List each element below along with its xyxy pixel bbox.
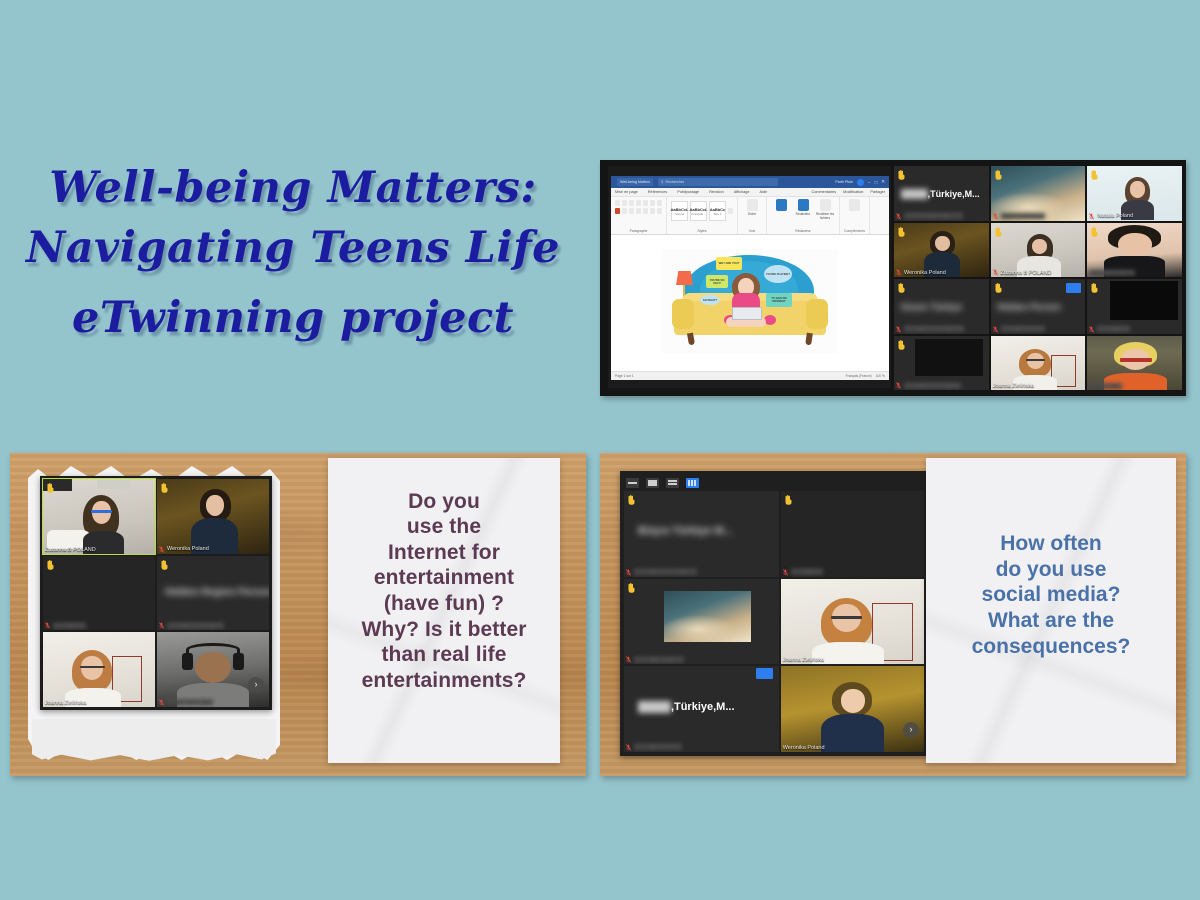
sort-icon[interactable] [650,200,655,206]
ribbon-tab-mise-en-page[interactable]: Mise en page [615,190,638,194]
shared-screen-area: Well-being Matters ⚲ Rechercher Partir P… [608,166,891,388]
spiral-ring [544,454,551,466]
zoom-level: 100 % [876,374,885,378]
spiral-ring [1063,454,1070,466]
participant-name: Zuzanna B POLAND [1001,270,1052,276]
group-label-styles: Styles [671,229,733,234]
spiral-ring [1127,454,1134,466]
participant-name: Büşra Türkiye M... [638,525,733,537]
spiral-ring [455,454,462,466]
table-row[interactable]: Zuzanna B POLAND [42,478,156,555]
split-rows-icon[interactable] [666,478,679,488]
table-row[interactable]: Weronika Poland [894,223,989,278]
bullets-icon[interactable] [615,200,620,206]
speech-bubble-1: WHY ARE YOU? [716,257,742,270]
spiral-ring [1079,454,1086,466]
mic-muted-icon [159,699,164,706]
spiral-ring [411,454,418,466]
spiral-ring [470,454,477,466]
show-marks-icon[interactable] [657,200,662,206]
collapse-bar-icon[interactable] [626,478,639,488]
raised-hand-icon [46,559,55,570]
decrease-indent-icon[interactable] [636,200,641,206]
participant-column-right: Hidden name Joanna Zielińska [781,491,924,752]
reuse-files-button[interactable]: Réutiliser les fichiers [815,199,835,220]
participant-name: Weronika Poland [167,546,209,552]
style-normal[interactable]: AaBbCcL Normal [671,201,688,221]
table-row[interactable]: Hidden participant [991,166,1086,221]
account-label: Partir Pluie [835,180,853,184]
multilevel-list-icon[interactable] [629,200,634,206]
table-row[interactable]: Hidden Region Person Hidden participant … [156,555,270,632]
spiral-binding [936,454,1166,467]
align-left-icon[interactable] [622,208,627,214]
participant-name: Hidden Person [997,302,1061,312]
spiral-ring [381,454,388,466]
mic-muted-icon [896,269,901,276]
participant-video [43,479,155,554]
page-number: Page 1 sur 1 [615,374,634,378]
style-titre-1[interactable]: AaBbCc Titre 1 [709,201,726,221]
addin-icon [849,199,860,211]
lamp-icon [676,271,693,285]
participant-video [915,339,983,376]
word-window: Well-being Matters ⚲ Rechercher Partir P… [611,176,889,380]
chevron-right-icon: › [910,725,913,734]
borders-icon[interactable] [657,208,662,214]
spiral-ring [499,454,506,466]
participant-video [991,336,1086,391]
speech-bubble-2: YOU'RE SO UGLY! [706,275,728,288]
word-search-input[interactable]: ⚲ Rechercher [658,178,778,186]
close-icon[interactable]: ✕ [881,179,885,185]
title-line-2: Navigating Teens Life [0,218,586,278]
participant-name: Hidden Region Person [165,587,270,598]
increase-indent-icon[interactable] [643,200,648,206]
table-row[interactable]: › Weronika Poland [781,666,924,752]
view-mode-toolbar [626,476,699,489]
mic-muted-icon [45,622,50,629]
speech-bubble-5: TU SAIS NO INTEREST [766,293,792,307]
status-badge [1066,283,1081,293]
participant-video [781,579,924,665]
spiral-ring [968,454,975,466]
spiral-ring [514,454,521,466]
participant-video [1087,336,1182,391]
spiral-ring [984,454,991,466]
ribbon-group-styles: AaBbCcL Normal AaBbCcL Français... AaBbC… [667,197,738,234]
status-badge [756,668,773,679]
raised-hand-icon [160,559,169,570]
grid-view-icon[interactable] [686,478,699,488]
spiral-ring [1143,454,1150,466]
dictate-button[interactable]: Dicter [742,199,762,216]
question-note-left: Do you use the Internet for entertainmen… [328,458,560,763]
table-row[interactable]: Zuzanna B POLAND [991,223,1086,278]
table-row[interactable]: Hidden name label [1087,223,1182,278]
raised-hand-icon [1090,282,1099,293]
spiral-ring [440,454,447,466]
spiral-ring [485,454,492,466]
share-button[interactable]: Partager [870,190,885,194]
group-label-paragraphe: Paragraphe [615,229,662,234]
spiral-ring [352,454,359,466]
mic-muted-icon [993,326,998,333]
table-row[interactable]: Hidden participant nam [894,336,989,391]
spiral-ring [529,454,536,466]
justify-icon[interactable] [643,208,648,214]
spiral-ring [396,454,403,466]
table-row[interactable]: Büşra Türkiye M... Hidden participant la… [624,491,779,577]
style-francais[interactable]: AaBbCcL Français... [690,201,707,221]
comments-button[interactable]: Commentaires [811,190,836,194]
girl-on-couch-with-laptop-illustration: WHY ARE YOU? YOU'RE SO UGLY! SO WHAT? YO… [662,249,838,353]
raised-hand-icon [897,169,906,180]
spiral-ring [1159,454,1166,466]
maximize-icon[interactable]: □ [875,180,878,185]
raised-hand-icon [897,282,906,293]
pen-icon [798,199,809,211]
table-row[interactable]: Natalia Poland [1087,166,1182,221]
spiral-ring [1032,454,1039,466]
numbering-icon[interactable] [622,200,627,206]
laptop-icon [732,307,762,320]
raised-hand-icon [627,494,636,505]
ribbon-tab-references[interactable]: Références [648,190,667,194]
mic-muted-icon [626,744,631,751]
chevron-right-icon: › [255,680,258,689]
ribbon-group-complements: Compléments [840,197,870,234]
table-row[interactable]: Joanna Zielińska [781,579,924,665]
participant-column-left: Büşra Türkiye M... Hidden participant la… [624,491,779,752]
title-line-1: Well-being Matters: [0,158,586,218]
participant-video [781,666,924,752]
table-row[interactable]: Hidden name [781,491,924,577]
speech-bubble-4: YOU'RE PLAYING? [764,265,792,283]
mic-muted-icon [783,569,788,576]
table-row[interactable]: Gizem,Türkiye,M... Hidden participant [624,666,779,752]
table-row[interactable]: Weronika Poland [156,478,270,555]
ribbon-group-redacteur: Rédacteur Réutiliser les fichiers Rédact… [767,197,840,234]
video-call-window: Büşra Türkiye M... Hidden participant la… [620,471,928,756]
ribbon-tab-publipostage[interactable]: Publipostage [677,190,699,194]
slide-canvas: Well-being Matters: Navigating Teens Lif… [0,0,1200,900]
styles-more-icon[interactable] [728,208,733,214]
raised-hand-icon [1090,169,1099,180]
editing-mode-button[interactable]: Modification [843,190,863,194]
participant-video [1087,223,1182,278]
participant-video [664,591,751,642]
group-label-complements: Compléments [844,229,865,234]
spiral-ring [1095,454,1102,466]
participant-name: Gizem,Türkiye,M... [638,701,735,713]
video-call-screenshot-shared-screen: Well-being Matters ⚲ Rechercher Partir P… [600,160,1186,396]
addins-button[interactable] [844,199,864,211]
spiral-ring [1000,454,1007,466]
spiral-ring [936,454,943,466]
table-row[interactable]: Gizem,Türkiye,M... Participant name hidd… [894,166,989,221]
table-row[interactable]: Hidden name [1087,279,1182,334]
spiral-ring [1016,454,1023,466]
spiral-ring [1047,454,1054,466]
spiral-ring [426,454,433,466]
participant-name: Joanna Zielińska [993,383,1034,389]
participant-video [157,632,269,707]
table-row[interactable]: Hidden name label [624,579,779,665]
word-document-page[interactable]: WHY ARE YOU? YOU'RE SO UGLY! SO WHAT? YO… [611,235,889,371]
group-label-redacteur: Rédacteur [771,229,835,234]
question-note-right: How often do you use social media? What … [926,458,1176,763]
spiral-ring [367,454,374,466]
table-row[interactable]: › Hidden name label [156,631,270,708]
align-center-icon[interactable] [629,208,634,214]
participant-name: Zuzanna B POLAND [45,547,96,553]
participant-name: Weronika Poland [783,745,825,751]
question-text-right: How often do you use social media? What … [944,531,1159,659]
single-frame-icon[interactable] [646,478,659,488]
question-text-left: Do you use the Internet for entertainmen… [344,489,544,694]
spiral-ring [1111,454,1118,466]
editor-button[interactable]: Rédacteur [793,199,813,216]
table-row[interactable]: Gizem Türkiye Hidden participant name [894,279,989,334]
video-call-window: Zuzanna B POLAND Weronika Poland [40,476,272,710]
participant-name: Joanna Zielińska [783,657,824,663]
spiral-ring [952,454,959,466]
mic-muted-icon [896,326,901,333]
reuse-icon [820,199,831,211]
microphone-icon [776,199,787,211]
title-line-3: eTwinning project [0,288,586,348]
ribbon-tab-revision[interactable]: Révision [709,190,724,194]
mic-muted-icon [159,622,164,629]
align-right-icon[interactable] [636,208,641,214]
raised-hand-icon [1090,226,1099,237]
raised-hand-icon [784,494,793,505]
language-label: Français (France) [846,374,872,378]
word-ribbon: Paragraphe AaBbCcL Normal AaBbCcL França… [611,197,889,235]
mic-muted-icon [896,213,901,220]
participant-name: Gizem Türkiye [901,302,963,312]
spiral-binding [337,454,550,467]
mic-muted-icon [159,546,164,553]
avatar[interactable] [857,179,864,186]
page-title: Well-being Matters: Navigating Teens Lif… [0,158,586,348]
raised-hand-icon [994,169,1003,180]
shading-icon[interactable] [615,208,620,214]
participant-grid: Gizem,Türkiye,M... Participant name hidd… [894,166,1182,390]
participant-video [1110,281,1178,320]
dictate-icon [747,199,758,211]
table-row[interactable]: Joanna Zielińska [42,631,156,708]
raised-hand-icon [46,482,55,493]
raised-hand-icon [627,582,636,593]
raised-hand-icon [897,339,906,350]
microphone-button[interactable] [771,199,791,211]
mic-muted-icon [993,269,998,276]
minimize-icon[interactable]: – [868,180,871,185]
raised-hand-icon [160,482,169,493]
line-spacing-icon[interactable] [650,208,655,214]
mic-muted-icon [896,382,901,389]
raised-hand-icon [994,282,1003,293]
word-titlebar: Well-being Matters ⚲ Rechercher Partir P… [611,176,889,188]
participant-name: Joanna Zielińska [45,700,86,706]
mic-muted-icon [626,656,631,663]
word-document-tab[interactable]: Well-being Matters [617,178,653,186]
next-page-button[interactable]: › [903,722,919,738]
next-page-button[interactable]: › [248,677,264,693]
participant-name: Weronika Poland [904,270,946,276]
ribbon-group-voix: Dicter Voix [738,197,767,234]
participant-grid: Zuzanna B POLAND Weronika Poland [42,478,270,708]
search-icon: ⚲ [661,180,664,184]
table-row[interactable]: Hidden Person Hidden participant [991,279,1086,334]
mic-muted-icon [1089,326,1094,333]
mic-muted-icon [626,569,631,576]
word-ribbon-tabs: Mise en page Références Publipostage Rév… [611,188,889,197]
raised-hand-icon [994,226,1003,237]
participant-video [43,632,155,707]
table-row[interactable]: Joanna Zielińska [991,336,1086,391]
ribbon-group-paragraphe: Paragraphe [611,197,667,234]
group-label-voix: Voix [742,229,762,234]
participant-name: Natalia Poland [1097,213,1133,219]
table-row[interactable]: Hidden name [42,555,156,632]
participant-video [157,479,269,554]
table-row[interactable]: Hidden name [1087,336,1182,391]
participant-name: Gizem,Türkiye,M... [901,189,980,199]
raised-hand-icon [897,226,906,237]
speech-bubble-3: SO WHAT? [700,295,720,305]
ribbon-tab-affichage[interactable]: Affichage [734,190,750,194]
mic-muted-icon [993,213,998,220]
ribbon-tab-aide[interactable]: Aide [760,190,768,194]
mic-muted-icon [1089,213,1094,220]
spiral-ring [337,454,344,466]
word-statusbar: Page 1 sur 1 Français (France) 100 % [611,371,889,380]
